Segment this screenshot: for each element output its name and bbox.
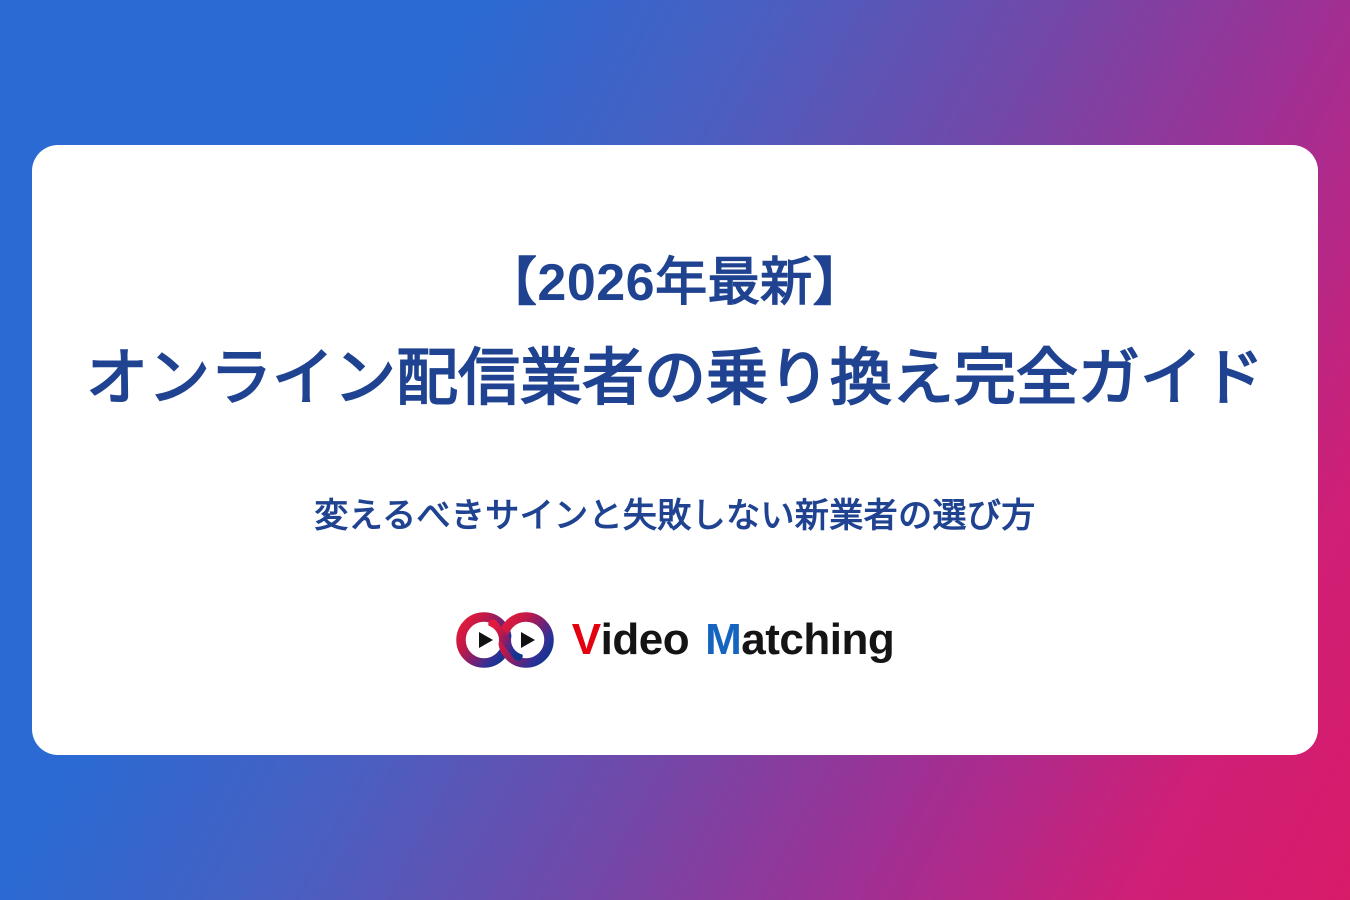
brand-wordmark: VideoMatching [572,618,894,662]
brand-word-ideo: ideo [601,618,689,662]
content-card: 【2026年最新】 オンライン配信業者の乗り換え完全ガイド 変えるべきサインと失… [32,145,1318,755]
infinity-play-icon [456,612,556,668]
page-title: オンライン配信業者の乗り換え完全ガイド [86,342,1264,416]
brand-word-atching: atching [741,618,894,662]
brand-initial-m: M [705,618,741,662]
brand-lockup: VideoMatching [456,612,894,668]
brand-initial-v: V [572,618,601,662]
poster-background: 【2026年最新】 オンライン配信業者の乗り換え完全ガイド 変えるべきサインと失… [0,0,1350,900]
page-subtitle: 変えるべきサインと失敗しない新業者の選び方 [314,494,1035,538]
eyebrow-label: 【2026年最新】 [485,253,865,314]
